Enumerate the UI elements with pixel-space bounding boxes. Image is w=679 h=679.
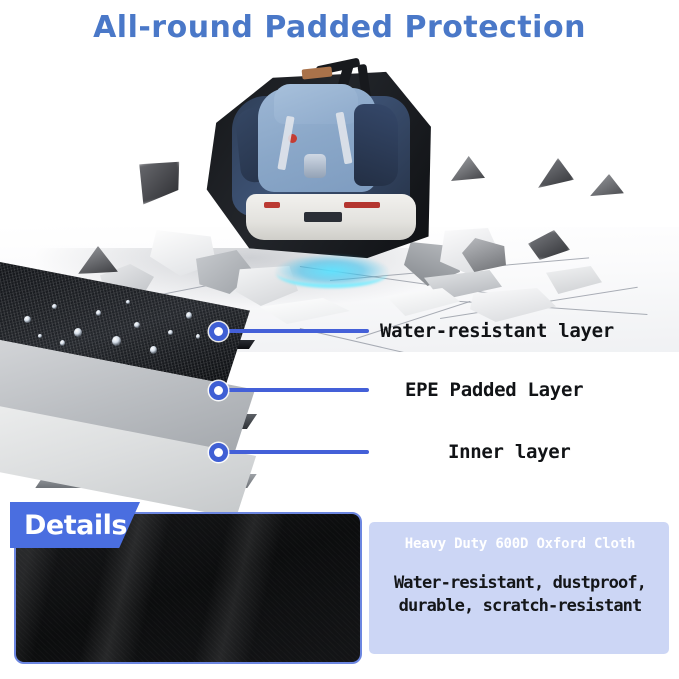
- product-infographic: All-round Padded Protection: [0, 0, 679, 679]
- material-features: Water-resistant, dustproof, durable, scr…: [377, 572, 663, 618]
- water-droplet: [196, 334, 200, 339]
- callout-label: EPE Padded Layer: [405, 379, 583, 401]
- callout-leader-line: [224, 388, 369, 392]
- water-droplet: [60, 340, 65, 346]
- water-droplet: [24, 316, 31, 323]
- water-droplet: [96, 310, 101, 316]
- child-car-seat: [232, 82, 414, 232]
- water-droplet: [52, 304, 57, 309]
- details-text-panel: Heavy Duty 600D Oxford Cloth Water-resis…: [369, 522, 669, 654]
- water-droplet: [38, 334, 42, 338]
- seat-indicator-panel: [304, 212, 342, 222]
- callout-leader-line: [224, 450, 369, 454]
- callout-label: Water-resistant layer: [380, 320, 614, 342]
- callout-marker: [209, 443, 228, 462]
- seat-harness-buckle: [304, 154, 326, 178]
- water-droplet: [186, 312, 192, 319]
- water-droplet: [134, 322, 140, 328]
- flying-debris: [590, 174, 624, 198]
- feature-line-2: durable, scratch-resistant: [377, 595, 663, 618]
- details-badge: Details: [10, 502, 140, 548]
- water-droplet: [168, 330, 173, 335]
- water-droplet: [74, 328, 82, 337]
- callout-label: Inner layer: [448, 441, 571, 463]
- feature-line-1: Water-resistant, dustproof,: [377, 572, 663, 595]
- seat-side-wing-right: [354, 104, 398, 186]
- callout-marker: [209, 322, 228, 341]
- material-heading: Heavy Duty 600D Oxford Cloth: [377, 536, 663, 552]
- flying-debris: [534, 158, 574, 188]
- flying-debris: [451, 156, 485, 182]
- seat-belt-path-marking: [344, 202, 380, 208]
- water-droplet: [126, 300, 130, 304]
- page-title: All-round Padded Protection: [0, 10, 679, 45]
- callout-leader-line: [224, 329, 369, 333]
- car-seat-travel-bag: [196, 60, 446, 270]
- flying-debris: [131, 155, 187, 205]
- callout-marker: [209, 381, 228, 400]
- seat-base-marking: [264, 202, 280, 208]
- details-badge-label: Details: [10, 510, 127, 541]
- water-droplet: [150, 346, 157, 354]
- water-droplet: [112, 336, 121, 346]
